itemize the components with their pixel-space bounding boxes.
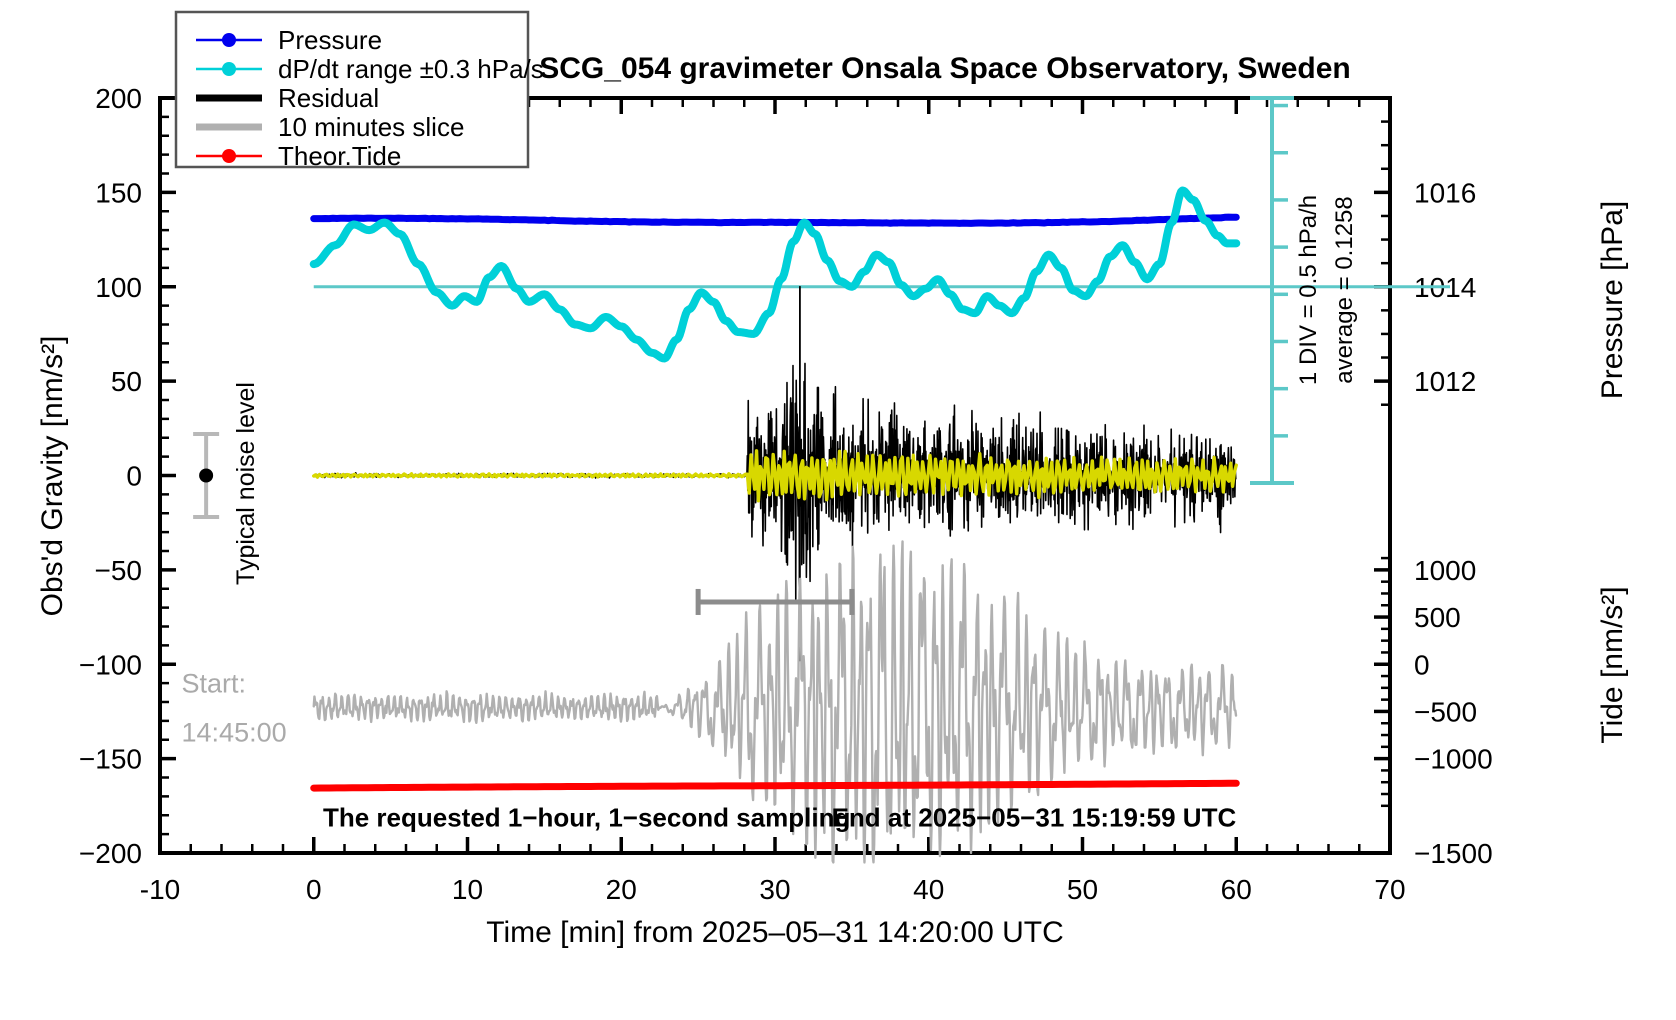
x-tick-label: 20 [606, 874, 637, 905]
x-tick-label: 40 [913, 874, 944, 905]
tide-tick-label: −1000 [1414, 744, 1493, 775]
tide-tick-label: −1500 [1414, 838, 1493, 869]
chart-root: -10010203040506070200150100500−50−100−15… [0, 0, 1676, 1020]
start-time-label: 14:45:00 [182, 718, 287, 748]
average-label: average = 0.1258 [1331, 196, 1358, 384]
legend-label-2: Residual [278, 83, 379, 113]
start-label: Start: [182, 669, 247, 699]
x-tick-label: 10 [452, 874, 483, 905]
x-axis-label: Time [min] from 2025–05–31 14:20:00 UTC [486, 916, 1064, 949]
y-tick-label: −100 [79, 649, 142, 680]
legend-label-4: Theor.Tide [278, 141, 401, 171]
y-tick-label: −50 [95, 555, 143, 586]
tide-tick-label: −500 [1414, 696, 1477, 727]
y-tick-label: −200 [79, 838, 142, 869]
x-tick-label: 0 [306, 874, 322, 905]
tide-tick-label: 1000 [1414, 555, 1476, 586]
legend-marker [222, 62, 236, 76]
y-tick-label: 200 [95, 83, 142, 114]
noise-level-label: Typical noise level [232, 382, 260, 585]
x-tick-label: 50 [1067, 874, 1098, 905]
chart-title: SCG_054 gravimeter Onsala Space Observat… [539, 52, 1351, 85]
div-scale-label: 1 DIV = 0.5 hPa/h [1295, 195, 1322, 385]
gravimeter-chart: -10010203040506070200150100500−50−100−15… [0, 0, 1676, 1020]
y-axis-label: Obs'd Gravity [nm/s²] [36, 336, 69, 617]
y-tick-label: 150 [95, 177, 142, 208]
y-tick-label: 50 [111, 366, 142, 397]
legend-marker [222, 33, 236, 47]
tide-tick-label: 0 [1414, 649, 1430, 680]
x-tick-label: -10 [140, 874, 180, 905]
y-axis-right-tide-label: Tide [nm/s²] [1596, 586, 1629, 743]
pressure-tick-label: 1016 [1414, 177, 1476, 208]
legend-label-0: Pressure [278, 25, 382, 55]
sampling-note: The requested 1−hour, 1−second sampling [323, 803, 850, 833]
y-tick-label: 0 [126, 461, 142, 492]
legend-label-3: 10 minutes slice [278, 112, 464, 142]
series-theor-tide [314, 783, 1237, 788]
y-tick-label: −150 [79, 744, 142, 775]
x-tick-label: 60 [1221, 874, 1252, 905]
noise-center-dot [199, 469, 213, 483]
y-tick-label: 100 [95, 272, 142, 303]
x-tick-label: 30 [759, 874, 790, 905]
legend-marker [222, 149, 236, 163]
tide-tick-label: 500 [1414, 602, 1461, 633]
y-axis-right-pressure-label: Pressure [hPa] [1596, 201, 1629, 399]
legend-label-1: dP/dt range ±0.3 hPa/s [278, 54, 544, 84]
x-tick-label: 70 [1374, 874, 1405, 905]
end-note: End at 2025−05−31 15:19:59 UTC [832, 803, 1237, 833]
pressure-tick-label: 1012 [1414, 366, 1476, 397]
legend: PressuredP/dt range ±0.3 hPa/sResidual10… [176, 12, 544, 171]
